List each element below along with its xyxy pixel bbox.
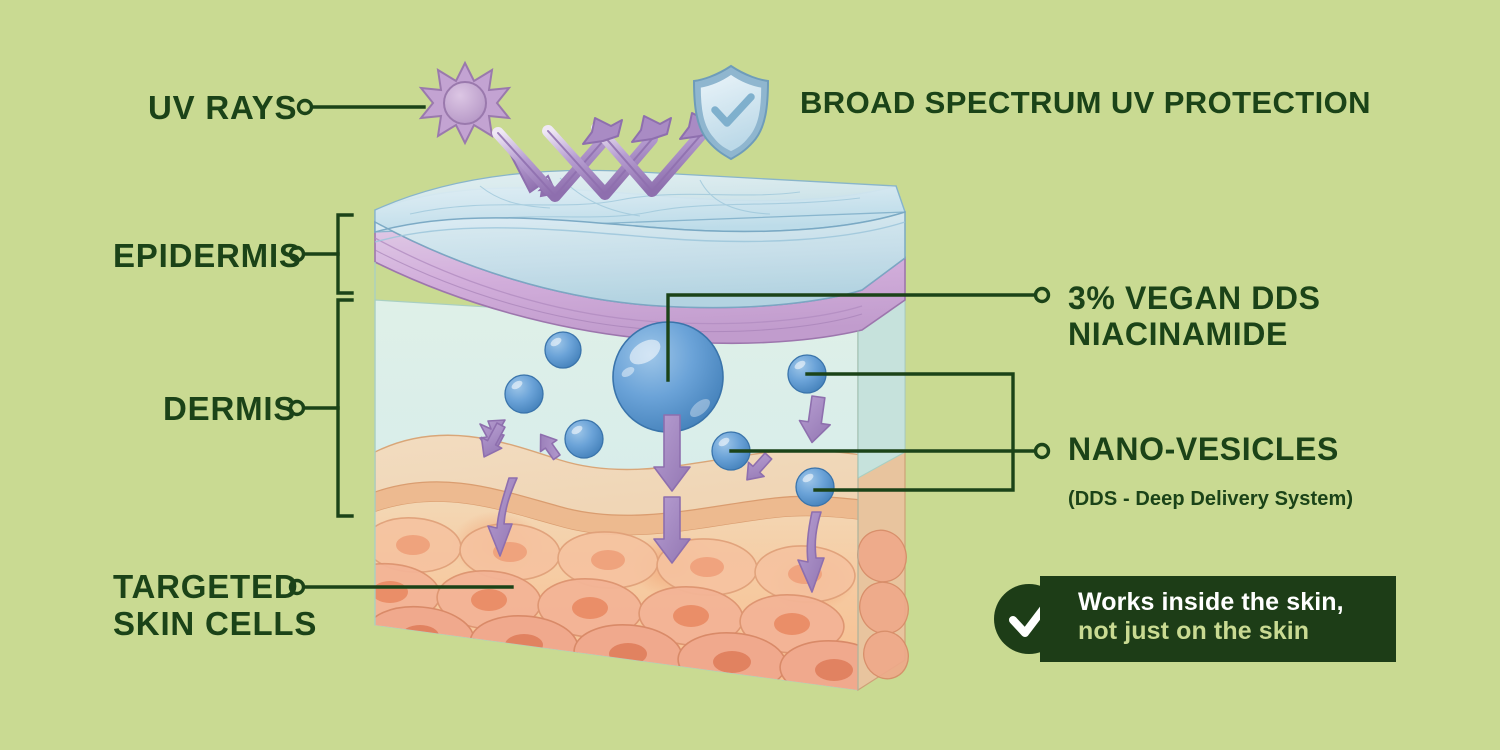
vesicle-small-2 (505, 375, 543, 413)
bracket-dermis (338, 300, 352, 516)
label-epidermis: EPIDERMIS (113, 238, 302, 275)
dot-uv-rays (299, 101, 312, 114)
label-broad-spectrum: BROAD SPECTRUM UV PROTECTION (800, 86, 1371, 121)
vesicle-small-1 (545, 332, 581, 368)
shield-check-icon (694, 66, 768, 159)
infographic-canvas: UV RAYS EPIDERMIS DERMIS TARGETED SKIN C… (0, 0, 1500, 750)
block-right-face (850, 300, 916, 690)
badge-line-1: Works inside the skin, (1078, 588, 1398, 617)
bracket-epidermis (338, 215, 352, 293)
label-targeted-skin-cells: TARGETED SKIN CELLS (113, 569, 317, 643)
vesicle-small-3 (565, 420, 603, 458)
badge-line-2: not just on the skin (1078, 617, 1398, 646)
label-uv-rays: UV RAYS (148, 90, 297, 127)
dot-vegan-dds (1036, 289, 1049, 302)
label-nano-vesicles: NANO-VESICLES (1068, 432, 1339, 468)
vesicle-labeled-bottom (796, 468, 834, 506)
dot-nano-vesicles (1036, 445, 1049, 458)
label-dermis: DERMIS (163, 391, 296, 428)
label-nano-vesicles-sub: (DDS - Deep Delivery System) (1068, 488, 1353, 510)
badge-text-block: Works inside the skin, not just on the s… (1078, 588, 1398, 647)
label-vegan-dds-niacinamide: 3% VEGAN DDS NIACINAMIDE (1068, 281, 1321, 353)
